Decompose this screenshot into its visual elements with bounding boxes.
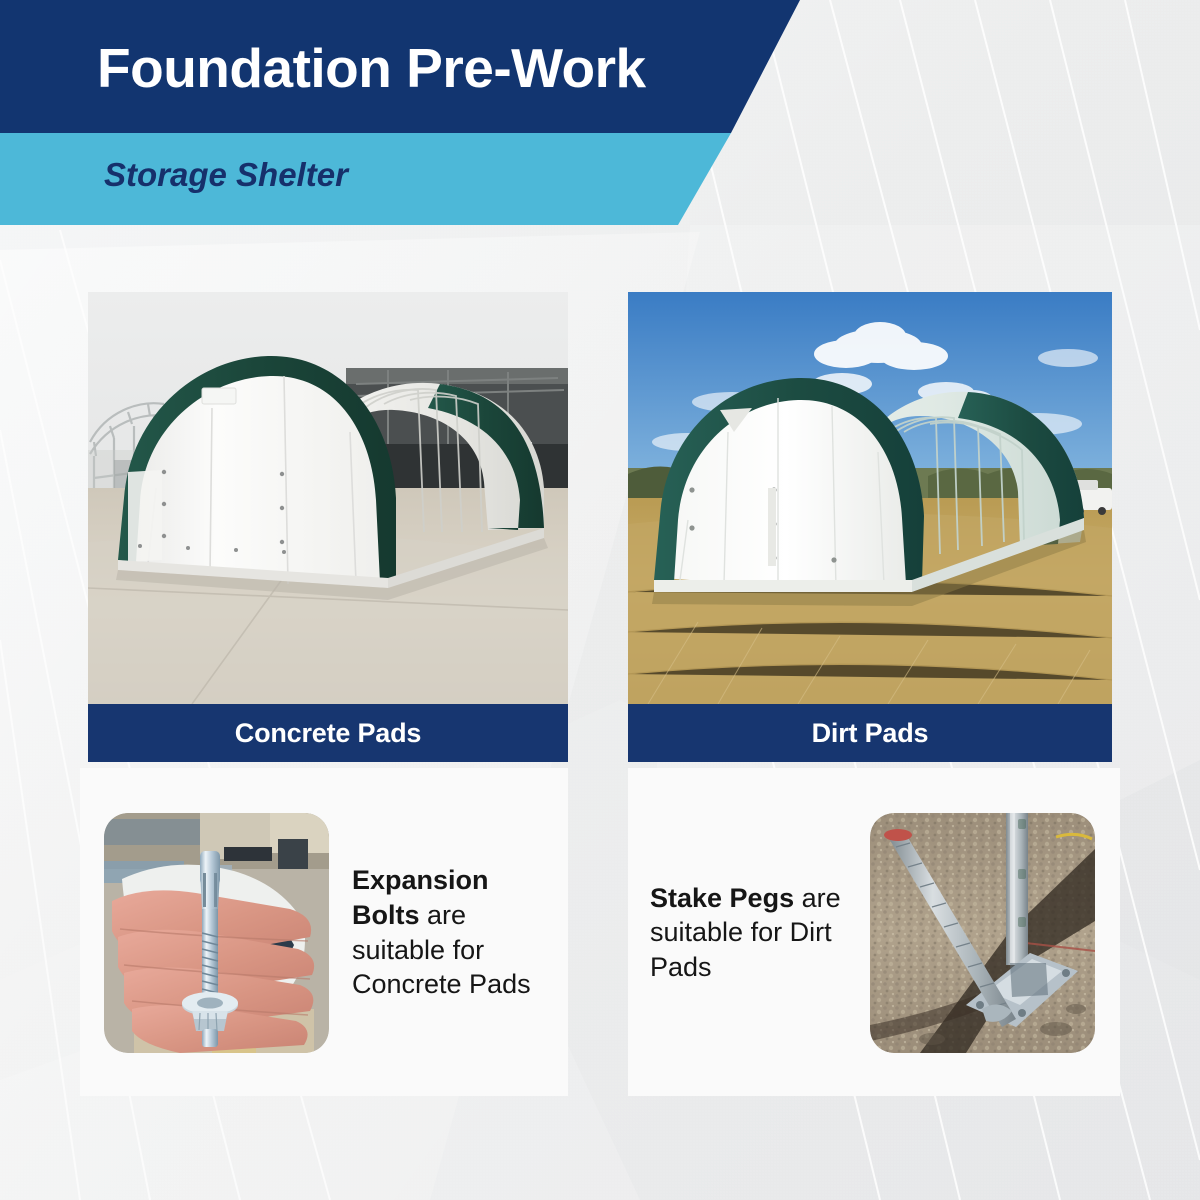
- feature-text-expansion-bolts: Expansion Bolts are suitable for Concret…: [352, 863, 554, 1001]
- header-banner-shape: [0, 0, 1200, 232]
- feature-expansion-bolts: Expansion Bolts are suitable for Concret…: [104, 800, 554, 1065]
- photo-shelter-concrete: [88, 292, 568, 704]
- page-header: Foundation Pre-Work Storage Shelter: [0, 0, 1200, 232]
- feature-strong-stake-pegs: Stake Pegs: [650, 883, 794, 913]
- feature-text-stake-pegs: Stake Pegs are suitable for Dirt Pads: [650, 881, 850, 985]
- thumb-stake-peg: [870, 813, 1095, 1053]
- page-subtitle: Storage Shelter: [104, 157, 348, 193]
- page-title: Foundation Pre-Work: [97, 38, 646, 99]
- feature-stake-pegs: Stake Pegs are suitable for Dirt Pads: [650, 800, 1105, 1065]
- label-concrete-pads: Concrete Pads: [88, 704, 568, 762]
- thumb-expansion-bolt: [104, 813, 329, 1053]
- label-dirt-pads: Dirt Pads: [628, 704, 1112, 762]
- photo-shelter-dirt: [628, 292, 1112, 704]
